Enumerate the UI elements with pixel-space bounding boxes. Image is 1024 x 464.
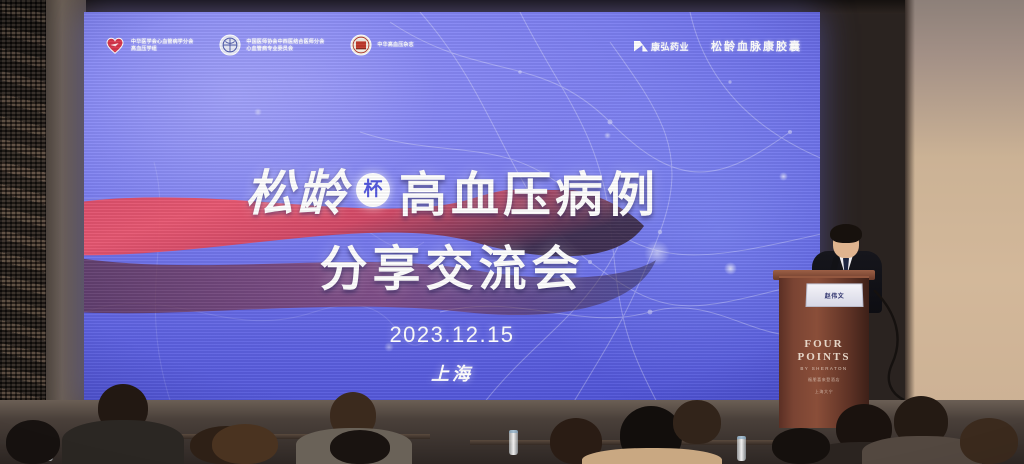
conference-photo: 中华医学会心血管病学分会 高血压学组 中国医师协会中西医结合医师分会 心血管病专… (0, 0, 1024, 464)
left-wall-panel (0, 0, 52, 420)
audience-shoulders (582, 448, 722, 464)
water-bottle (737, 436, 746, 461)
podium-brand-line1: FOUR (779, 338, 869, 351)
speaker-hair (830, 224, 862, 243)
speaker-name-text: 赵伟文 (825, 291, 845, 300)
left-pillar (46, 0, 86, 430)
audience-head (6, 420, 60, 464)
podium-brand-line2: POINTS (779, 351, 869, 364)
podium-brand-line4: 福朋喜来登酒店 (779, 377, 869, 383)
podium-brand-line5: 上海大宁 (779, 389, 869, 395)
audience-head (673, 400, 721, 444)
audience-head (330, 430, 390, 464)
audience-head (960, 418, 1018, 464)
podium-brand-line3: BY SHERATON (779, 366, 869, 371)
screen-vignette (84, 12, 820, 408)
right-wall (905, 0, 1024, 464)
audience-shoulders (62, 420, 184, 464)
water-bottle (509, 430, 518, 455)
podium-branding: FOUR POINTS BY SHERATON 福朋喜来登酒店 上海大宁 (779, 338, 869, 395)
speaker-name-card: 赵伟文 (805, 283, 863, 307)
audience-head (772, 428, 830, 464)
audience-head (212, 424, 278, 464)
led-screen: 中华医学会心血管病学分会 高血压学组 中国医师协会中西医结合医师分会 心血管病专… (84, 12, 820, 408)
microphone-cable (870, 290, 908, 400)
